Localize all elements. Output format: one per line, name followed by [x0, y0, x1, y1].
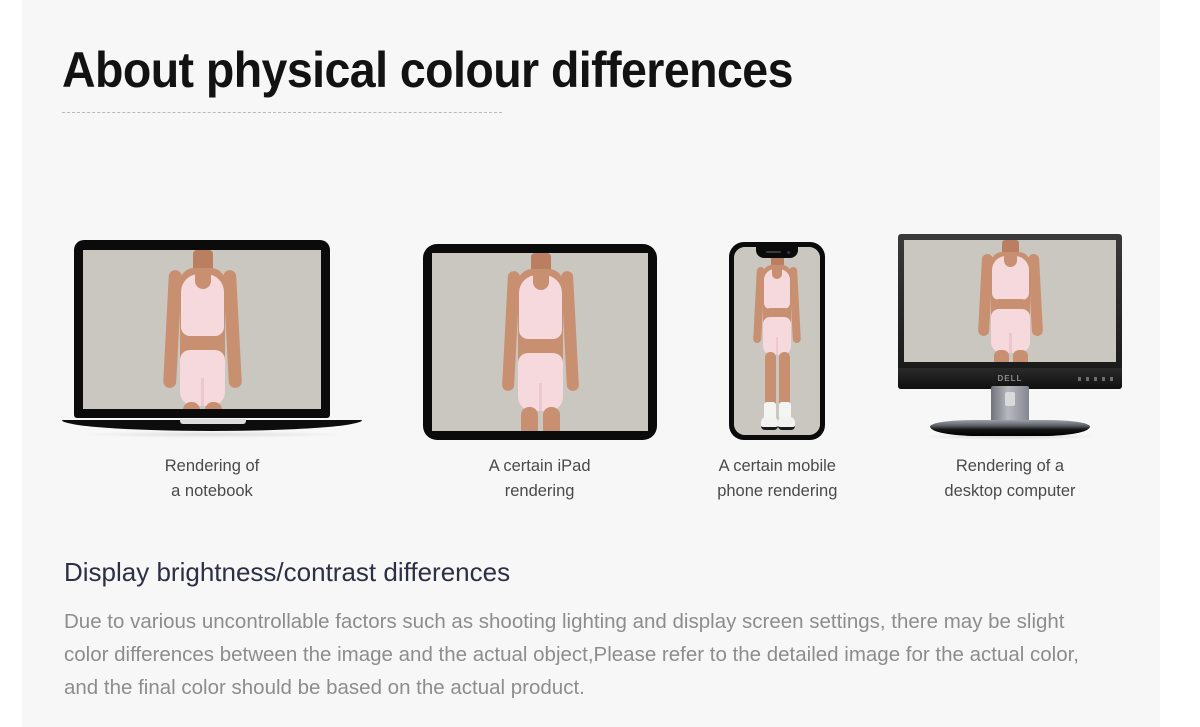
- monitor-button-3[interactable]: [1094, 377, 1097, 381]
- laptop-lid: [74, 240, 330, 418]
- device-cell-phone: A certain mobile phone rendering: [717, 228, 837, 504]
- speaker-icon: [766, 251, 781, 253]
- phone-stage: [729, 228, 825, 440]
- notebook-stage: [62, 228, 362, 440]
- monitor-cable-clip: [1005, 392, 1015, 406]
- device-caption-notebook: Rendering of a notebook: [165, 454, 259, 504]
- phone-screen: [734, 247, 820, 435]
- product-photo-desktop: [904, 240, 1116, 362]
- device-caption-phone: A certain mobile phone rendering: [717, 454, 837, 504]
- monitor-power-button[interactable]: [1110, 377, 1113, 381]
- title-divider: [62, 112, 502, 113]
- monitor-screen: [904, 240, 1116, 362]
- tablet-screen: [432, 253, 648, 431]
- tablet-bezel: [423, 244, 657, 440]
- laptop-shadow: [76, 431, 348, 438]
- laptop-trackpad-notch: [180, 419, 246, 424]
- notice-body-text: Due to various uncontrollable factors su…: [64, 605, 1109, 705]
- device-caption-ipad: A certain iPad rendering: [489, 454, 591, 504]
- notice-heading: Display brightness/contrast differences: [64, 556, 1134, 589]
- monitor-shadow: [920, 433, 1100, 440]
- device-mockups-row: Rendering of a notebook: [62, 228, 1122, 518]
- monitor-button-1[interactable]: [1078, 377, 1081, 381]
- monitor-button-4[interactable]: [1102, 377, 1105, 381]
- monitor-mockup: DELL: [898, 234, 1122, 440]
- product-photo-notebook: [83, 250, 321, 409]
- laptop-screen: [83, 250, 321, 409]
- monitor-button-2[interactable]: [1086, 377, 1089, 381]
- content-panel: About physical colour differences: [22, 0, 1160, 727]
- phone-bezel: [729, 242, 825, 440]
- desktop-stage: DELL: [898, 228, 1122, 440]
- page-title: About physical colour differences: [62, 42, 992, 98]
- ipad-stage: [423, 228, 657, 440]
- monitor-stand-neck: [991, 386, 1029, 424]
- device-caption-desktop: Rendering of a desktop computer: [944, 454, 1075, 504]
- monitor-panel: DELL: [898, 234, 1122, 389]
- device-cell-desktop: DELL: [898, 228, 1122, 504]
- notice-block: Display brightness/contrast differences …: [64, 556, 1134, 704]
- dell-brand-logo: DELL: [998, 374, 1023, 383]
- device-cell-ipad: A certain iPad rendering: [423, 228, 657, 504]
- product-photo-ipad: [432, 253, 648, 431]
- product-photo-phone: [734, 247, 820, 435]
- device-cell-notebook: Rendering of a notebook: [62, 228, 362, 504]
- tablet-mockup: [423, 244, 657, 440]
- laptop-mockup: [62, 240, 362, 440]
- phone-notch: [756, 247, 798, 258]
- phone-mockup: [729, 242, 825, 440]
- title-block: About physical colour differences: [62, 42, 1062, 113]
- monitor-control-buttons[interactable]: [1078, 377, 1113, 381]
- front-camera-icon: [787, 251, 791, 255]
- colour-difference-notice-page: About physical colour differences: [0, 0, 1200, 727]
